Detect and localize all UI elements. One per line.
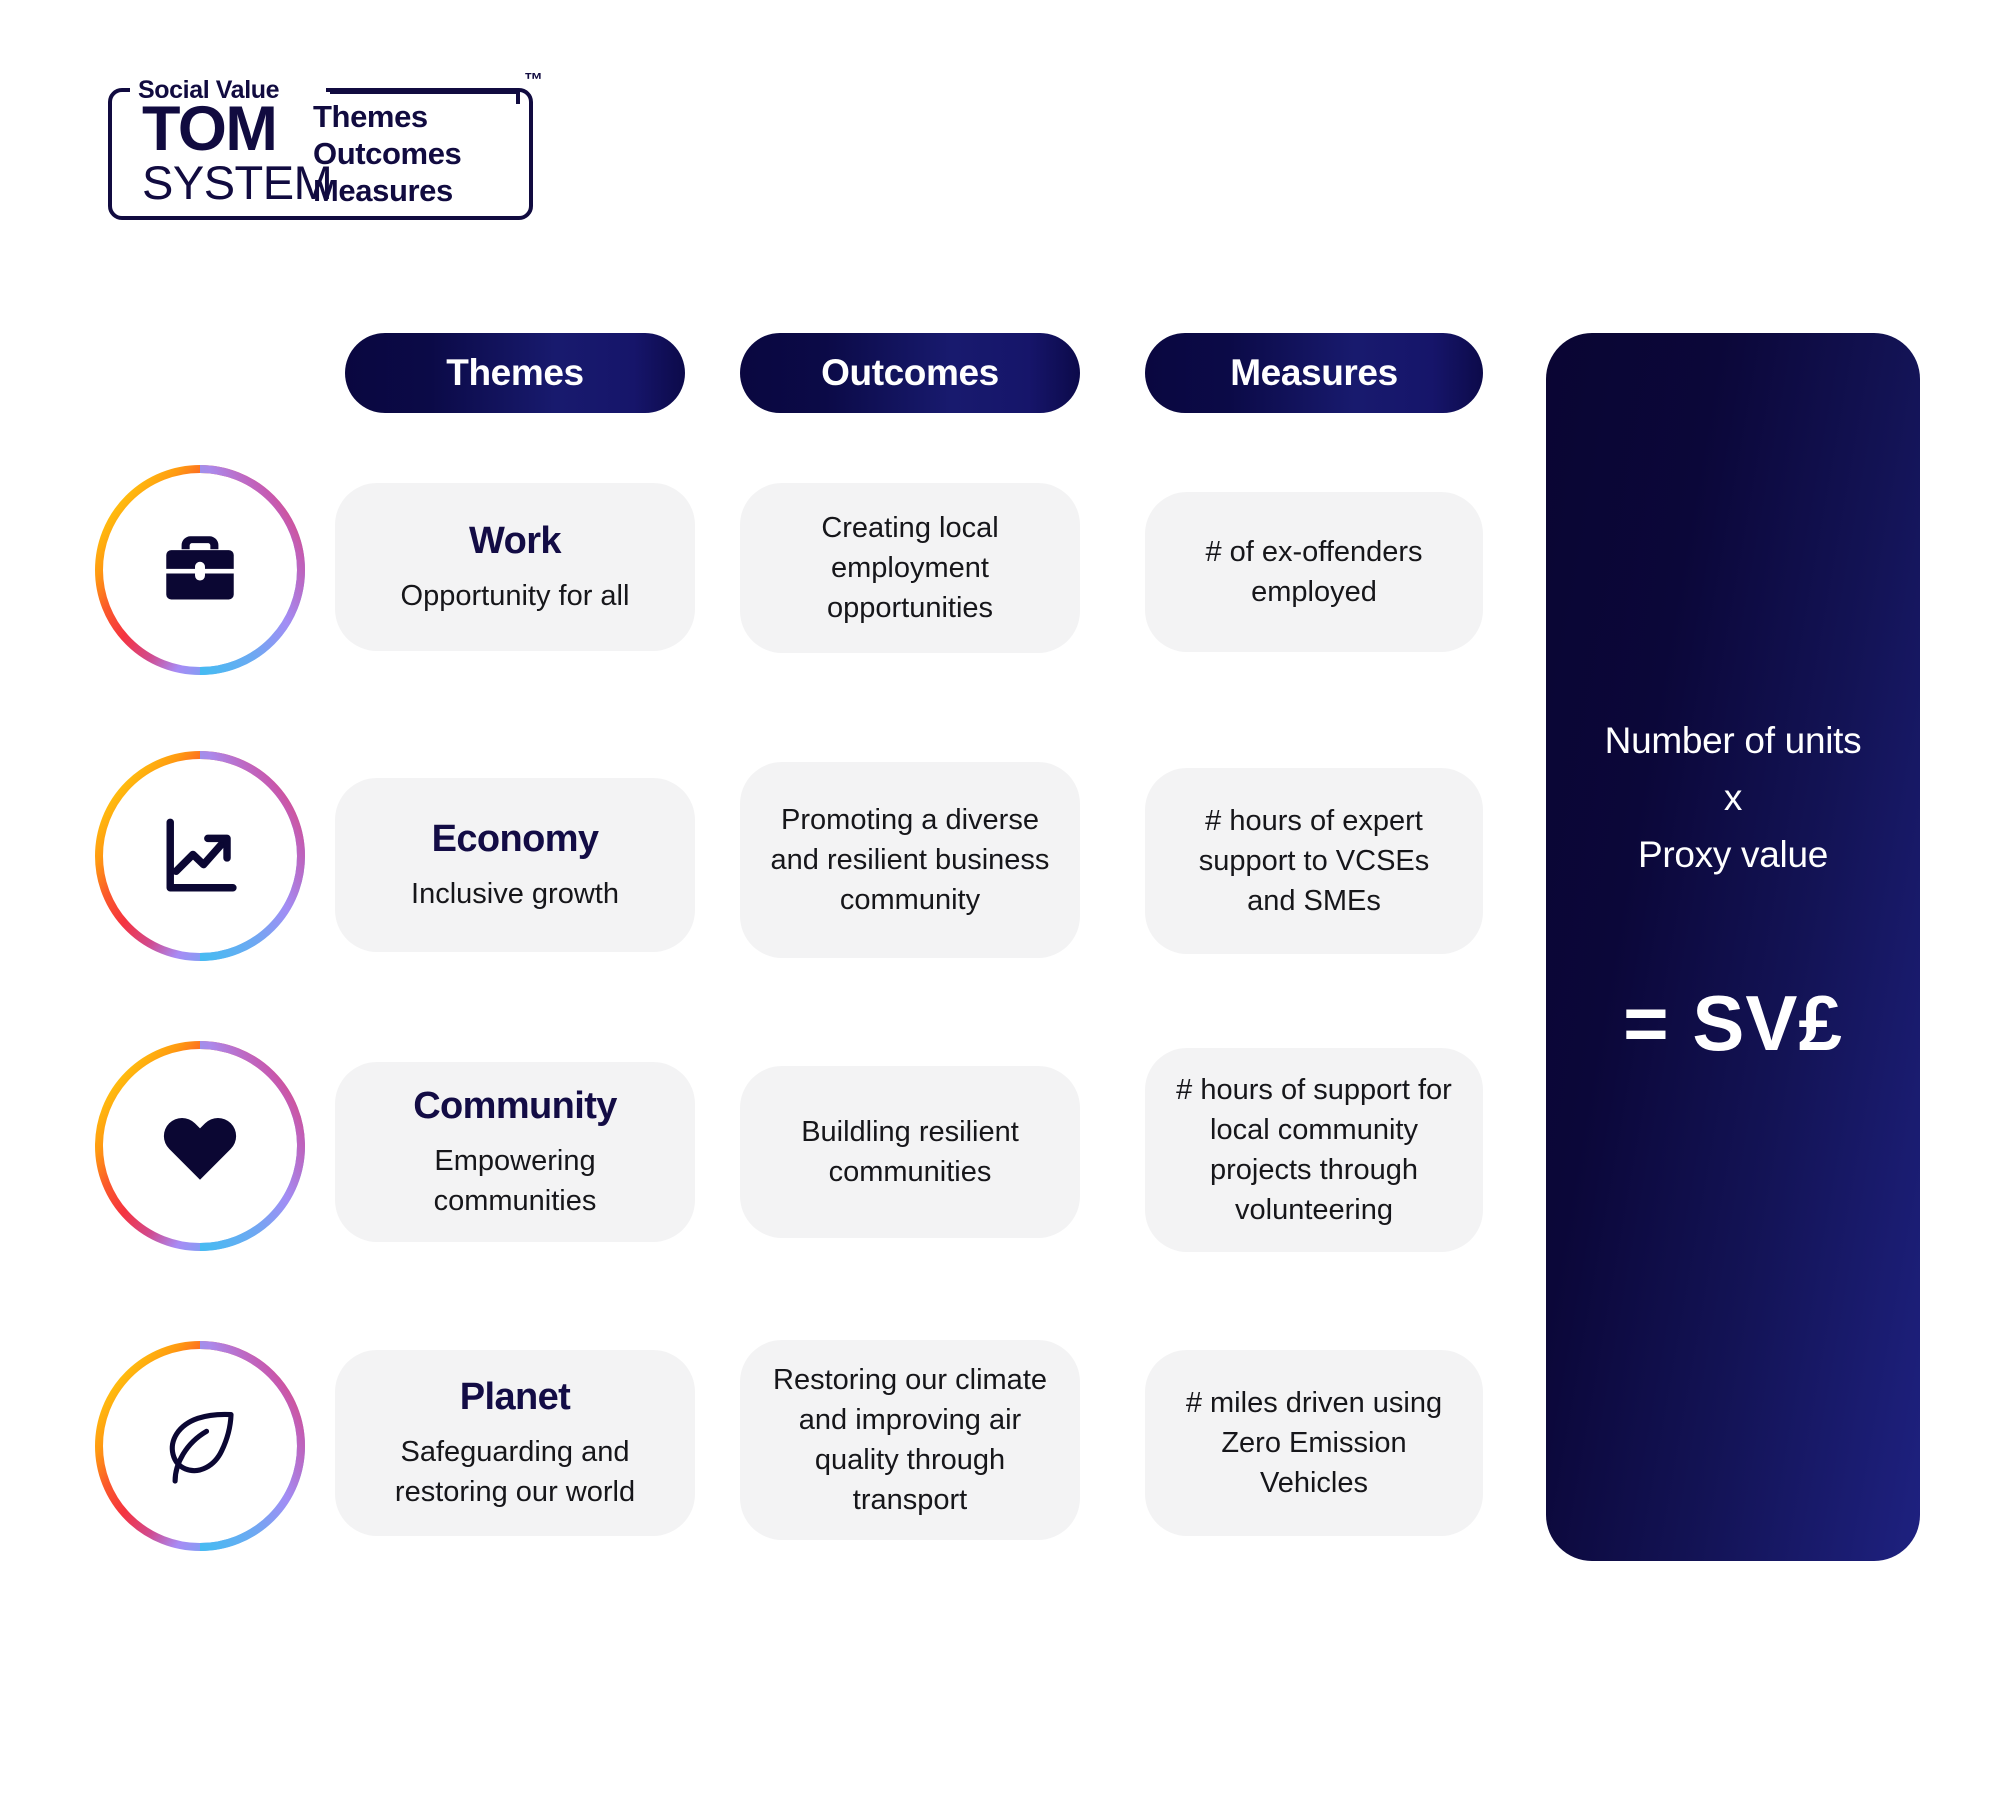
theme-card-work: Work Opportunity for all	[335, 483, 695, 651]
column-header-outcomes: Outcomes	[740, 333, 1080, 413]
logo-expansion-line-measures: Measures	[313, 172, 461, 209]
outcome-text-planet: Restoring our climate and improving air …	[766, 1360, 1054, 1520]
theme-subtitle-planet: Safeguarding and restoring our world	[361, 1432, 669, 1512]
theme-card-planet: Planet Safeguarding and restoring our wo…	[335, 1350, 695, 1536]
diagram-canvas: Social Value ™ TOM SYSTEM Themes Outcome…	[0, 0, 2000, 1800]
column-header-outcomes-label: Outcomes	[821, 352, 999, 394]
logo-rule-end-cap	[516, 90, 520, 104]
column-header-themes: Themes	[345, 333, 685, 413]
logo-expansion-line-themes: Themes	[313, 98, 461, 135]
measure-card-planet: # miles driven using Zero Emission Vehic…	[1145, 1350, 1483, 1536]
theme-icon-ring-planet	[92, 1338, 308, 1554]
outcome-text-economy: Promoting a diverse and resilient busine…	[766, 800, 1054, 920]
social-value-calculation-panel: Number of units x Proxy value = SV£	[1546, 333, 1920, 1561]
column-header-themes-label: Themes	[446, 352, 583, 394]
theme-title-economy: Economy	[432, 816, 599, 862]
outcome-card-planet: Restoring our climate and improving air …	[740, 1340, 1080, 1540]
logo-expansion-line-outcomes: Outcomes	[313, 135, 461, 172]
outcome-card-community: Buildling resilient communities	[740, 1066, 1080, 1238]
theme-title-work: Work	[469, 518, 561, 564]
leaf-icon	[92, 1338, 308, 1554]
heart-icon	[92, 1038, 308, 1254]
theme-subtitle-economy: Inclusive growth	[411, 874, 619, 914]
briefcase-icon	[92, 462, 308, 678]
theme-title-planet: Planet	[460, 1374, 570, 1420]
trademark-symbol: ™	[524, 70, 543, 92]
logo-expansion-text: Themes Outcomes Measures	[313, 98, 461, 209]
measure-text-community: # hours of support for local community p…	[1171, 1070, 1457, 1230]
measure-text-economy: # hours of expert support to VCSEs and S…	[1171, 801, 1457, 921]
sv-result-label: = SV£	[1623, 978, 1843, 1069]
logo-horizontal-rule	[330, 90, 520, 94]
measure-card-work: # of ex-offenders employed	[1145, 492, 1483, 652]
theme-card-economy: Economy Inclusive growth	[335, 778, 695, 952]
column-header-measures-label: Measures	[1230, 352, 1398, 394]
theme-icon-ring-work	[92, 462, 308, 678]
theme-icon-ring-economy	[92, 748, 308, 964]
line-chart-growth-icon	[92, 748, 308, 964]
sv-formula-block: Number of units x Proxy value	[1605, 712, 1862, 883]
measure-card-community: # hours of support for local community p…	[1145, 1048, 1483, 1252]
social-value-tom-system-logo: Social Value ™ TOM SYSTEM Themes Outcome…	[108, 70, 548, 220]
theme-card-community: Community Empowering communities	[335, 1062, 695, 1242]
theme-subtitle-community: Empowering communities	[361, 1141, 669, 1221]
outcome-text-community: Buildling resilient communities	[766, 1112, 1054, 1192]
outcome-text-work: Creating local employment opportunities	[766, 508, 1054, 628]
measure-text-work: # of ex-offenders employed	[1171, 532, 1457, 612]
measure-text-planet: # miles driven using Zero Emission Vehic…	[1171, 1383, 1457, 1503]
theme-subtitle-work: Opportunity for all	[401, 576, 630, 616]
logo-word-system: SYSTEM	[142, 158, 332, 208]
theme-title-community: Community	[413, 1083, 617, 1129]
logo-word-tom: TOM	[142, 98, 276, 160]
sv-formula-proxy-value: Proxy value	[1605, 826, 1862, 883]
measure-card-economy: # hours of expert support to VCSEs and S…	[1145, 768, 1483, 954]
column-header-measures: Measures	[1145, 333, 1483, 413]
outcome-card-economy: Promoting a diverse and resilient busine…	[740, 762, 1080, 958]
theme-icon-ring-community	[92, 1038, 308, 1254]
sv-formula-units: Number of units	[1605, 712, 1862, 769]
sv-formula-operator: x	[1605, 769, 1862, 826]
outcome-card-work: Creating local employment opportunities	[740, 483, 1080, 653]
